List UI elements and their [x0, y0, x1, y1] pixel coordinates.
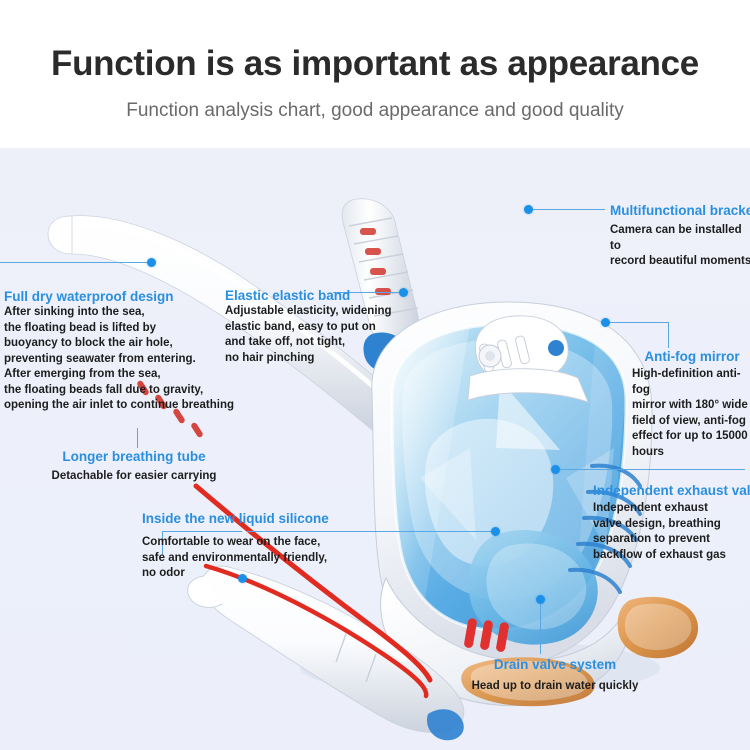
strap-anchor [618, 597, 698, 658]
exhaust-valve-slots [463, 618, 509, 653]
leader-independent-exhaust-valve [560, 469, 745, 470]
annotation-title-full-dry-waterproof-design: Full dry waterproof design [4, 288, 254, 305]
marker-independent-exhaust-valve [551, 465, 560, 474]
annotation-title-independent-exhaust-valve: Independent exhaust valve [593, 482, 750, 499]
leader-full-dry-waterproof-design [0, 262, 147, 263]
marker-elastic-elastic-band [399, 288, 408, 297]
header-band: Function is as important as appearance F… [0, 0, 750, 148]
leader-drain-valve-system [540, 604, 541, 654]
marker-multifunctional-bracket [524, 205, 533, 214]
annotation-anti-fog-mirror: Anti-fog mirror High-definition anti-fog… [632, 348, 750, 460]
annotation-title-drain-valve-system: Drain valve system [440, 656, 670, 673]
annotation-body-anti-fog-mirror: High-definition anti-fog mirror with 180… [632, 367, 750, 460]
annotation-elastic-elastic-band: Elastic elastic band Adjustable elastici… [225, 287, 400, 366]
annotation-drain-valve-system: Drain valve system Head up to drain wate… [440, 656, 670, 695]
annotation-independent-exhaust-valve: Independent exhaust valve Independent ex… [593, 482, 750, 563]
annotation-body-longer-breathing-tube: Detachable for easier carrying [14, 469, 254, 485]
annotation-multifunctional-bracket: Multifunctional bracket Camera can be in… [610, 202, 750, 270]
annotation-title-multifunctional-bracket: Multifunctional bracket [610, 202, 750, 219]
annotation-body-drain-valve-system: Head up to drain water quickly [440, 679, 670, 695]
annotation-body-independent-exhaust-valve: Independent exhaust valve design, breath… [593, 501, 750, 563]
annotation-body-elastic-elastic-band: Adjustable elasticity, widening elastic … [225, 304, 400, 366]
annotation-inside-liquid-silicone: Inside the new liquid silicone Comfortab… [142, 510, 372, 582]
page-title: Function is as important as appearance [0, 44, 750, 84]
marker-anti-fog-mirror [601, 318, 610, 327]
leader-longer-breathing-tube [137, 428, 138, 448]
marker-inside-liquid-silicone-b [491, 527, 500, 536]
annotation-title-longer-breathing-tube: Longer breathing tube [14, 448, 254, 465]
annotation-title-elastic-elastic-band: Elastic elastic band [225, 287, 400, 304]
infographic-page: Function is as important as appearance F… [0, 0, 750, 750]
leader-anti-fog-mirror-v [668, 322, 669, 348]
leader-anti-fog-mirror [610, 322, 668, 323]
marker-drain-valve-system [536, 595, 545, 604]
marker-full-dry-waterproof-design [147, 258, 156, 267]
annotation-longer-breathing-tube: Longer breathing tube Detachable for eas… [14, 448, 254, 485]
annotation-body-inside-liquid-silicone: Comfortable to wear on the face, safe an… [142, 535, 372, 582]
annotation-full-dry-waterproof-design: Full dry waterproof design After sinking… [4, 288, 254, 414]
annotation-body-multifunctional-bracket: Camera can be installed to record beauti… [610, 223, 750, 270]
leader-multifunctional-bracket [533, 209, 605, 210]
annotation-title-inside-liquid-silicone: Inside the new liquid silicone [142, 510, 372, 527]
page-subtitle: Function analysis chart, good appearance… [0, 100, 750, 122]
annotation-title-anti-fog-mirror: Anti-fog mirror [632, 348, 750, 365]
product-stage: Full dry waterproof design After sinking… [0, 148, 750, 750]
annotation-body-full-dry-waterproof-design: After sinking into the sea, the floating… [4, 305, 254, 414]
